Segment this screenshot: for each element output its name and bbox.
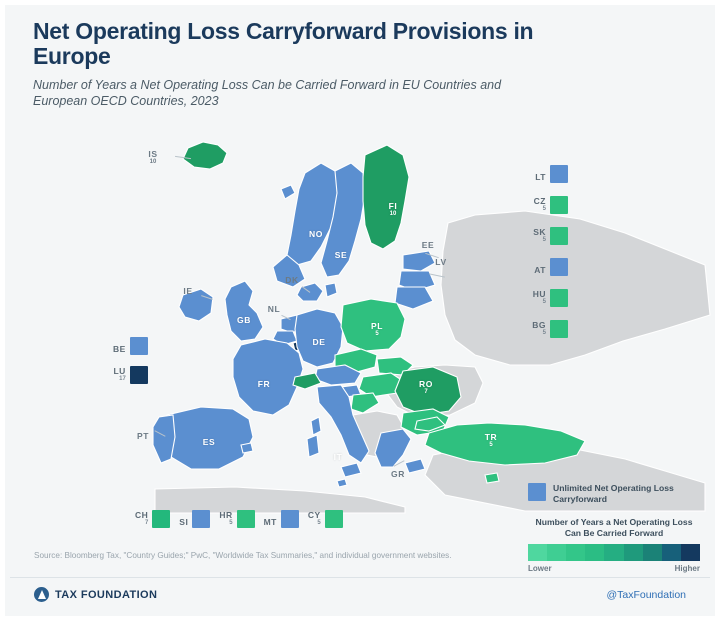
country-code: GB (232, 316, 256, 325)
map-label-fr: FR (252, 380, 276, 389)
gradient-step-2 (547, 544, 566, 561)
country-chip-sk: SK5 (524, 227, 568, 245)
header: Net Operating Loss Carryforward Provisio… (33, 19, 553, 109)
chip-text: CY5 (308, 511, 321, 529)
chip-swatch (325, 510, 343, 528)
gradient-step-7 (643, 544, 662, 561)
country-value: 5 (308, 520, 321, 526)
country-code: AT (524, 266, 546, 275)
legend-unlimited-entry: Unlimited Net Operating Loss Carryforwar… (528, 483, 700, 506)
country-code: LT (524, 173, 546, 182)
country-code: SK (524, 228, 546, 237)
gradient-step-1 (528, 544, 547, 561)
country-value: 5 (524, 330, 546, 336)
country-code: HU (524, 290, 546, 299)
chip-text: CZ5 (524, 197, 546, 215)
gradient-step-9 (681, 544, 700, 561)
country-code: HR (219, 511, 232, 520)
legend-lower-label: Lower (528, 564, 552, 573)
country-code: RO (414, 380, 438, 389)
country-code: PL (365, 322, 389, 331)
chip-text: MT (264, 518, 277, 529)
country-code: IE (176, 287, 200, 296)
legend-gradient-scale (528, 544, 700, 561)
chip-swatch (550, 196, 568, 214)
chip-text: SI (179, 518, 188, 529)
bottom-country-chips: CH7SIHR5MTCY5 (135, 510, 352, 528)
country-code: GR (386, 470, 410, 479)
country-code: LV (429, 258, 453, 267)
country-chip-si: SI (179, 510, 210, 528)
country-chip-mt: MT (264, 510, 299, 528)
chip-swatch (550, 320, 568, 338)
social-handle[interactable]: @TaxFoundation (606, 589, 686, 601)
legend-higher-label: Higher (675, 564, 700, 573)
country-value: 5 (219, 520, 232, 526)
country-code: CH (135, 511, 148, 520)
country-value: 7 (135, 520, 148, 526)
tax-foundation-logo-icon (34, 587, 49, 602)
country-value: 7 (414, 389, 438, 395)
country-code: SI (179, 518, 188, 527)
chip-text: LU17 (113, 367, 125, 385)
country-code: FR (252, 380, 276, 389)
chip-swatch (237, 510, 255, 528)
right-country-chips: LTCZ5SK5ATHU5BG5 (524, 165, 568, 351)
page-title: Net Operating Loss Carryforward Provisio… (33, 19, 553, 69)
map-label-it: IT (326, 453, 350, 462)
chip-swatch (550, 289, 568, 307)
country-chip-at: AT (524, 258, 568, 276)
country-code: CY (308, 511, 321, 520)
legend-scale-title: Number of Years a Net Operating Loss Can… (528, 517, 700, 539)
country-code: LU (113, 367, 125, 376)
page-subtitle: Number of Years a Net Operating Loss Can… (33, 77, 553, 109)
map-label-pl: PL5 (365, 322, 389, 337)
country-value: 5 (365, 331, 389, 337)
country-code: PT (131, 432, 155, 441)
map-label-nl: NL (262, 305, 286, 314)
country-code: TR (479, 433, 503, 442)
legend-gradient-endpoints: Lower Higher (528, 564, 700, 573)
country-code: DE (307, 338, 331, 347)
chip-swatch (281, 510, 299, 528)
country-chip-hr: HR5 (219, 510, 254, 528)
map-label-pt: PT (131, 432, 155, 441)
country-code: BG (524, 321, 546, 330)
chip-swatch (130, 366, 148, 384)
gradient-step-4 (585, 544, 604, 561)
map-label-es: ES (197, 438, 221, 447)
map-label-lv: LV (429, 258, 453, 267)
country-code: IS (141, 150, 165, 159)
map-label-gb: GB (232, 316, 256, 325)
map-label-dk: DK (280, 276, 304, 285)
country-code: BE (113, 345, 126, 354)
gradient-step-6 (624, 544, 643, 561)
country-chip-hu: HU5 (524, 289, 568, 307)
gradient-step-8 (662, 544, 681, 561)
country-chip-lt: LT (524, 165, 568, 183)
chip-swatch (152, 510, 170, 528)
country-value: 5 (524, 299, 546, 305)
gradient-step-3 (566, 544, 585, 561)
chip-text: HU5 (524, 290, 546, 308)
footer-bar: TAX FOUNDATION @TaxFoundation (10, 577, 710, 611)
map-label-se: SE (329, 251, 353, 260)
chip-text: LT (524, 173, 546, 184)
country-code: SE (329, 251, 353, 260)
europe-choropleth-map: .c{stroke:#ffffff;stroke-width:1.1;} .bl… (5, 115, 715, 515)
country-value: 5 (524, 206, 546, 212)
legend-unlimited-label: Unlimited Net Operating Loss Carryforwar… (553, 483, 700, 506)
chip-swatch (192, 510, 210, 528)
map-legend: Unlimited Net Operating Loss Carryforwar… (528, 483, 700, 573)
chip-text: CH7 (135, 511, 148, 529)
country-chip-bg: BG5 (524, 320, 568, 338)
chip-text: BG5 (524, 321, 546, 339)
country-value: 10 (141, 159, 165, 165)
chip-text: HR5 (219, 511, 232, 529)
country-code: IT (326, 453, 350, 462)
country-chip-cy: CY5 (308, 510, 343, 528)
country-code: DK (280, 276, 304, 285)
country-code: NO (304, 230, 328, 239)
legend-unlimited-swatch (528, 483, 546, 501)
country-code: FI (381, 202, 405, 211)
chip-swatch (550, 258, 568, 276)
country-value: 5 (524, 237, 546, 243)
country-code: CZ (524, 197, 546, 206)
map-label-is: IS10 (141, 150, 165, 165)
map-label-fi: FI10 (381, 202, 405, 217)
brand-name: TAX FOUNDATION (55, 589, 157, 601)
map-label-ie: IE (176, 287, 200, 296)
country-chip-ch: CH7 (135, 510, 170, 528)
infographic-frame: Net Operating Loss Carryforward Provisio… (0, 0, 720, 621)
country-value: 10 (381, 211, 405, 217)
country-code: ES (197, 438, 221, 447)
country-value: 5 (479, 442, 503, 448)
chip-swatch (550, 227, 568, 245)
country-value: 17 (113, 376, 125, 382)
country-code: MT (264, 518, 277, 527)
country-code: EE (416, 241, 440, 250)
map-label-de: DE (307, 338, 331, 347)
map-label-tr: TR5 (479, 433, 503, 448)
brand-lockup: TAX FOUNDATION (34, 587, 157, 602)
chip-swatch (550, 165, 568, 183)
map-label-ee: EE (416, 241, 440, 250)
chip-swatch (130, 337, 148, 355)
chip-text: BE (113, 345, 126, 356)
country-chip-cz: CZ5 (524, 196, 568, 214)
country-code: NL (262, 305, 286, 314)
map-label-no: NO (304, 230, 328, 239)
map-label-ro: RO7 (414, 380, 438, 395)
source-note: Source: Bloomberg Tax, "Country Guides;"… (34, 550, 454, 562)
map-area: .c{stroke:#ffffff;stroke-width:1.1;} .bl… (5, 115, 715, 515)
map-label-gr: GR (386, 470, 410, 479)
chip-text: SK5 (524, 228, 546, 246)
gradient-step-5 (604, 544, 623, 561)
country-chip-lu: LU17 (113, 366, 147, 384)
chip-text: AT (524, 266, 546, 277)
country-chip-be: BE (113, 337, 148, 355)
left-country-chips: BELU17 (113, 337, 148, 395)
